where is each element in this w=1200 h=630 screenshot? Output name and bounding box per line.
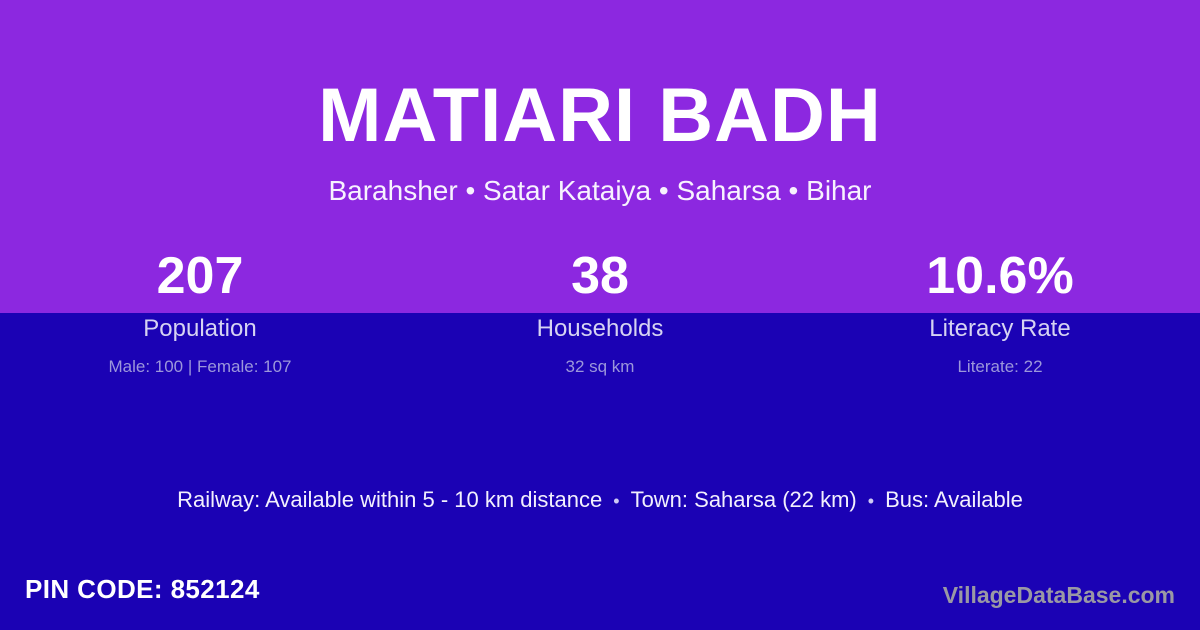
stat-value: 10.6% — [800, 245, 1200, 313]
stat-population: 207 Population Male: 100 | Female: 107 — [0, 245, 400, 378]
stat-label: Literacy Rate — [800, 314, 1200, 344]
stat-value: 207 — [0, 245, 400, 313]
stats-row: 207 Population Male: 100 | Female: 107 3… — [0, 245, 1200, 378]
footer: PIN CODE: 852124 VillageDataBase.com — [0, 558, 1200, 630]
pin-code: PIN CODE: 852124 — [25, 572, 260, 606]
village-info-card: MATIARI BADH Barahsher • Satar Kataiya •… — [0, 0, 1200, 630]
stat-label: Households — [400, 314, 800, 344]
infrastructure-row: Railway: Available within 5 - 10 km dist… — [0, 485, 1200, 516]
stat-literacy-rate: 10.6% Literacy Rate Literate: 22 — [800, 245, 1200, 378]
infra-item-railway: Railway: Available within 5 - 10 km dist… — [177, 485, 602, 515]
infra-item-bus: Bus: Available — [885, 485, 1023, 515]
stat-label: Population — [0, 314, 400, 344]
bullet-separator-icon: • — [857, 486, 885, 516]
stat-households: 38 Households 32 sq km — [400, 245, 800, 378]
stat-sublabel: Male: 100 | Female: 107 — [0, 356, 400, 378]
title-block: MATIARI BADH Barahsher • Satar Kataiya •… — [0, 0, 1200, 208]
stat-sublabel: 32 sq km — [400, 356, 800, 378]
stat-sublabel: Literate: 22 — [800, 356, 1200, 378]
infra-item-town: Town: Saharsa (22 km) — [631, 485, 857, 515]
page-title: MATIARI BADH — [0, 76, 1200, 157]
breadcrumb: Barahsher • Satar Kataiya • Saharsa • Bi… — [0, 173, 1200, 208]
site-brand: VillageDataBase.com — [943, 580, 1175, 610]
stat-value: 38 — [400, 245, 800, 313]
bullet-separator-icon: • — [602, 486, 630, 516]
